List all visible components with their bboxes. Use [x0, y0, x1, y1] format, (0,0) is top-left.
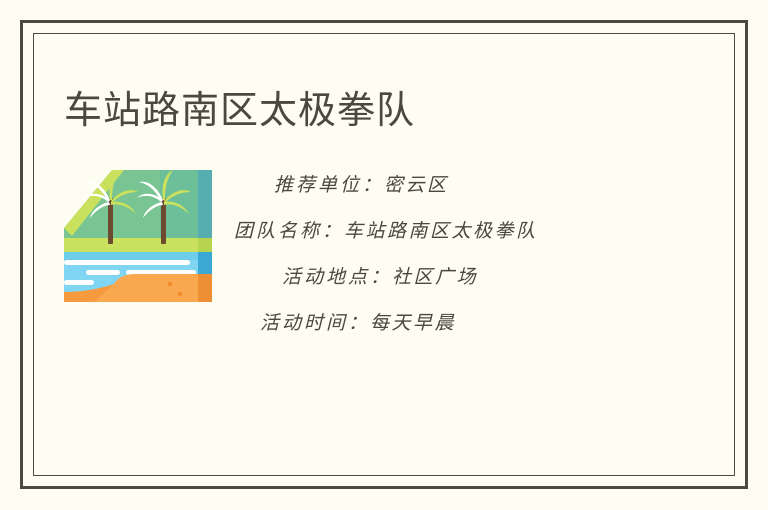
info-value-team-name: 车站路南区太极拳队 — [344, 220, 538, 242]
info-label-activity-time: 活动时间： — [260, 312, 370, 334]
outer-frame-border: 车站路南区太极拳队 — [20, 20, 748, 489]
info-row-recommending-unit: 推荐单位：密云区 — [234, 162, 704, 208]
page-title: 车站路南区太极拳队 — [64, 91, 415, 133]
info-row-activity-time: 活动时间：每天早晨 — [234, 300, 704, 346]
info-value-activity-time: 每天早晨 — [370, 312, 456, 334]
certificate-page: 车站路南区太极拳队 — [0, 0, 768, 510]
info-value-activity-location: 社区广场 — [392, 266, 478, 288]
info-row-team-name: 团队名称：车站路南区太极拳队 — [234, 208, 704, 254]
info-row-activity-location: 活动地点：社区广场 — [234, 254, 704, 300]
inner-frame-border: 车站路南区太极拳队 — [33, 33, 735, 476]
info-value-recommending-unit: 密云区 — [384, 174, 449, 196]
info-list: 推荐单位：密云区 团队名称：车站路南区太极拳队 活动地点：社区广场 活动时间：每… — [234, 162, 704, 346]
info-label-team-name: 团队名称： — [234, 220, 344, 242]
info-label-recommending-unit: 推荐单位： — [274, 174, 384, 196]
beach-island-illustration — [64, 154, 212, 302]
info-label-activity-location: 活动地点： — [282, 266, 392, 288]
